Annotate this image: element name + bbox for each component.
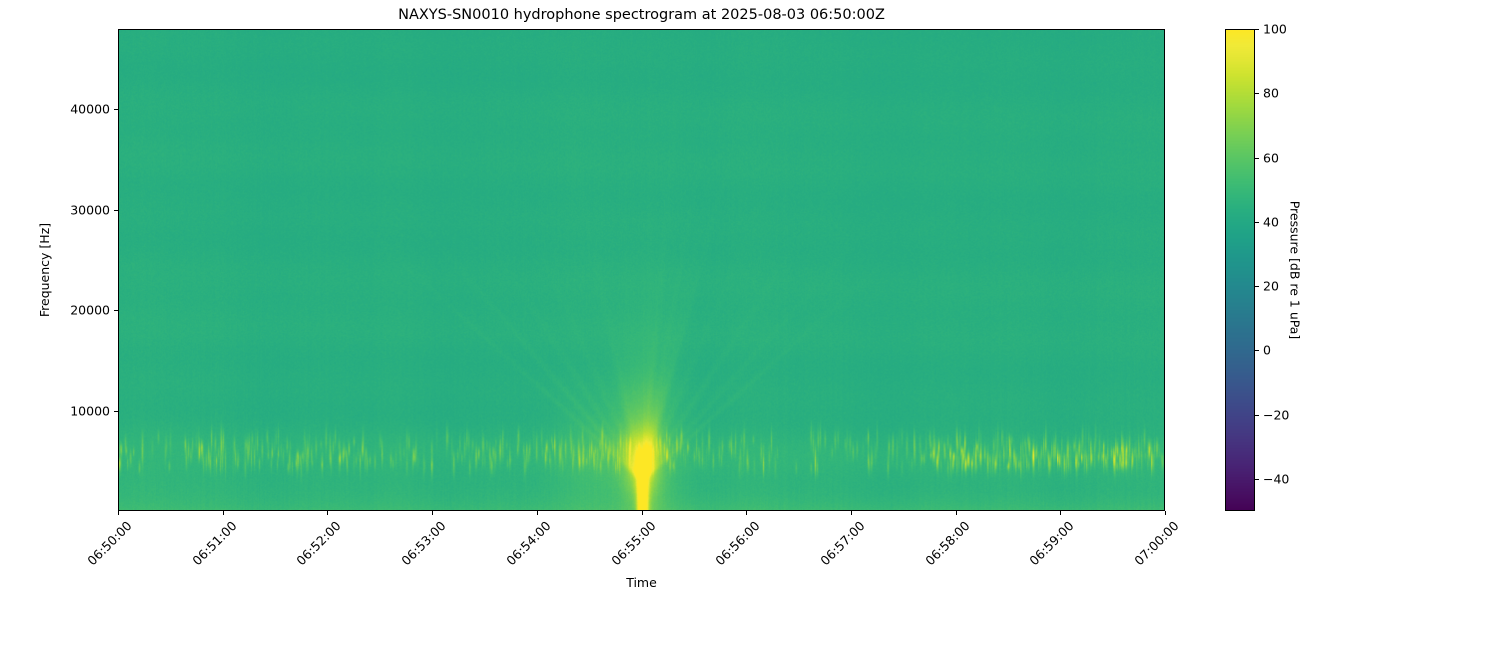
colorbar-tick-label: 60 bbox=[1263, 150, 1279, 165]
colorbar-tick-mark bbox=[1255, 415, 1259, 416]
colorbar-label: Pressure [dB re 1 uPa] bbox=[1288, 201, 1303, 340]
colorbar-tick-mark bbox=[1255, 29, 1259, 30]
y-tick-label: 40000 bbox=[0, 102, 110, 117]
colorbar-tick-label: −20 bbox=[1263, 407, 1289, 422]
spectrogram-figure: NAXYS-SN0010 hydrophone spectrogram at 2… bbox=[0, 0, 1500, 600]
x-tick-mark bbox=[1165, 511, 1166, 515]
colorbar-tick-mark bbox=[1255, 93, 1259, 94]
colorbar-tick-mark bbox=[1255, 286, 1259, 287]
x-tick-mark bbox=[537, 511, 538, 515]
y-tick-label: 30000 bbox=[0, 202, 110, 217]
colorbar-tick-mark bbox=[1255, 222, 1259, 223]
x-tick-mark bbox=[223, 511, 224, 515]
x-axis-label: Time bbox=[118, 575, 1165, 590]
x-tick-mark bbox=[118, 511, 119, 515]
x-tick-mark bbox=[432, 511, 433, 515]
colorbar-tick-label: 20 bbox=[1263, 279, 1279, 294]
x-tick-mark bbox=[956, 511, 957, 515]
y-tick-mark bbox=[114, 411, 118, 412]
colorbar-tick-label: 0 bbox=[1263, 343, 1271, 358]
colorbar[interactable] bbox=[1225, 29, 1255, 511]
x-tick-mark bbox=[746, 511, 747, 515]
colorbar-tick-label: 80 bbox=[1263, 86, 1279, 101]
x-tick-mark bbox=[851, 511, 852, 515]
colorbar-tick-label: 100 bbox=[1263, 22, 1287, 37]
colorbar-tick-mark bbox=[1255, 479, 1259, 480]
colorbar-tick-mark bbox=[1255, 350, 1259, 351]
page-title: NAXYS-SN0010 hydrophone spectrogram at 2… bbox=[118, 7, 1165, 23]
colorbar-tick-label: 40 bbox=[1263, 214, 1279, 229]
colorbar-tick-label: −40 bbox=[1263, 471, 1289, 486]
colorbar-tick-mark bbox=[1255, 158, 1259, 159]
spectrogram-axes[interactable] bbox=[118, 29, 1165, 511]
y-tick-label: 10000 bbox=[0, 403, 110, 418]
x-tick-mark bbox=[327, 511, 328, 515]
y-tick-label: 20000 bbox=[0, 303, 110, 318]
spectrogram-image bbox=[119, 30, 1164, 510]
y-tick-mark bbox=[114, 210, 118, 211]
y-axis-label: Frequency [Hz] bbox=[37, 223, 52, 317]
x-tick-mark bbox=[1060, 511, 1061, 515]
y-tick-mark bbox=[114, 310, 118, 311]
y-tick-mark bbox=[114, 109, 118, 110]
x-tick-mark bbox=[642, 511, 643, 515]
